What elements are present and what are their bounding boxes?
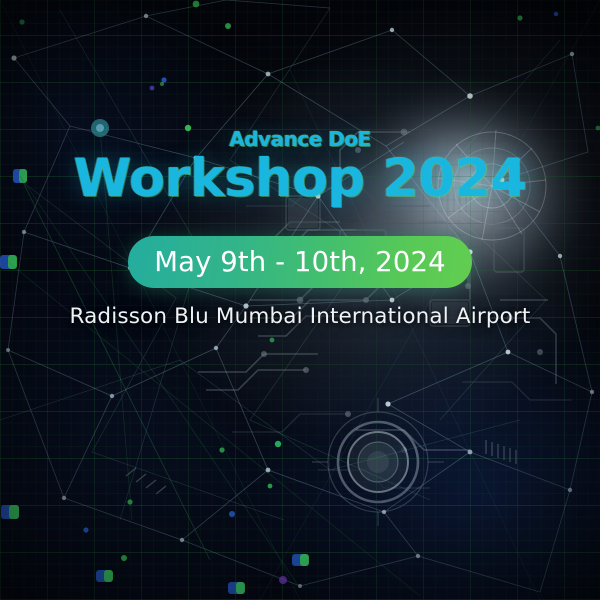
- poster-content: Advance DoE Workshop 2024 May 9th - 10th…: [0, 0, 600, 600]
- event-date-label: May 9th - 10th, 2024: [154, 246, 445, 278]
- page-title: Advance DoE Workshop 2024: [73, 128, 526, 208]
- headline-line-2: Workshop 2024: [73, 150, 526, 208]
- headline-line-1: Advance DoE: [73, 128, 526, 150]
- event-venue: Radisson Blu Mumbai International Airpor…: [69, 304, 530, 329]
- event-date-badge: May 9th - 10th, 2024: [128, 236, 471, 288]
- event-poster: Advance DoE Workshop 2024 May 9th - 10th…: [0, 0, 600, 600]
